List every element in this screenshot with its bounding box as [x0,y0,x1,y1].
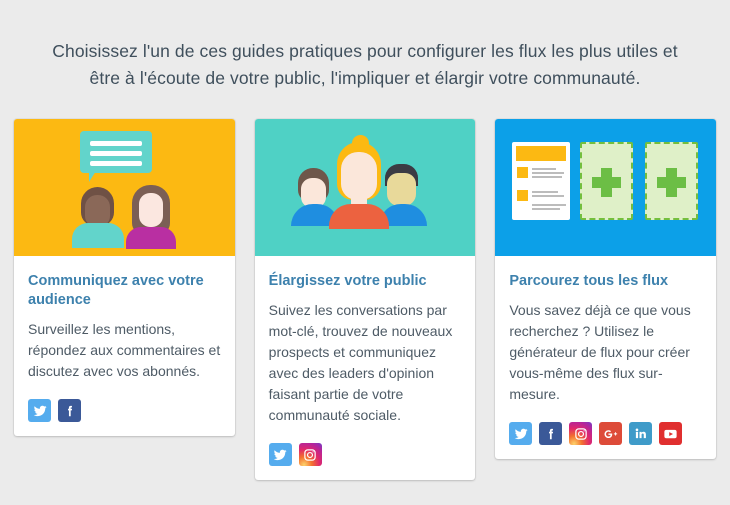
googleplus-icon[interactable] [599,422,622,445]
plus-icon [666,168,677,197]
facebook-icon[interactable] [58,399,81,422]
instagram-icon[interactable] [299,443,322,466]
document-header-bar [516,146,566,161]
guide-card-elargissez[interactable]: Élargissez votre public Suivez les conve… [255,119,476,480]
social-icons-row [269,443,462,466]
document-line-7 [532,208,560,210]
person-center-body [329,204,389,229]
facebook-icon[interactable] [539,422,562,445]
card-title[interactable]: Communiquez avec votre audience [28,272,221,310]
person-b-body [126,227,176,249]
plus-icon [601,168,612,197]
document-line-1 [532,168,556,170]
twitter-icon[interactable] [28,399,51,422]
add-feed-card-1[interactable] [580,142,633,220]
intro-paragraph: Choisissez l'un de ces guides pratiques … [50,38,680,92]
guide-card-communiquez[interactable]: Communiquez avec votre audience Surveill… [14,119,235,436]
document-line-6 [532,204,566,206]
document-line-2 [532,172,564,174]
guide-card-parcourez[interactable]: Parcourez tous les flux Vous savez déjà … [495,119,716,459]
document-thumb-2 [517,190,528,201]
card-body-communiquez: Communiquez avec votre audience Surveill… [14,256,235,436]
card-illustration-elargissez [255,119,476,256]
card-title[interactable]: Élargissez votre public [269,272,462,291]
linkedin-icon[interactable] [629,422,652,445]
person-center-bun [352,135,369,151]
instagram-icon[interactable] [569,422,592,445]
document-line-5 [532,195,564,197]
youtube-icon[interactable] [659,422,682,445]
card-illustration-communiquez [14,119,235,256]
card-description: Surveillez les mentions, répondez aux co… [28,319,221,382]
card-description: Suivez les conversations par mot-clé, tr… [269,300,462,426]
person-a-body [72,223,124,248]
three-people-illustration [255,119,476,256]
add-feed-card-2[interactable] [645,142,698,220]
person-right-face [387,173,416,206]
card-title[interactable]: Parcourez tous les flux [509,272,702,291]
card-body-parcourez: Parcourez tous les flux Vous savez déjà … [495,256,716,459]
document-line-4 [532,191,558,193]
twitter-icon[interactable] [269,443,292,466]
card-body-elargissez: Élargissez votre public Suivez les conve… [255,256,476,480]
card-illustration-parcourez [495,119,716,256]
card-description: Vous savez déjà ce que vous recherchez ?… [509,300,702,405]
feed-document-icon [512,142,570,220]
document-line-3 [532,176,562,178]
page-root: Choisissez l'un de ces guides pratiques … [0,0,730,505]
document-thumb-1 [517,167,528,178]
social-icons-row [509,422,702,445]
twitter-icon[interactable] [509,422,532,445]
guide-cards-list: Communiquez avec votre audience Surveill… [14,119,716,480]
person-b-face [139,193,163,227]
social-icons-row [28,399,221,422]
speech-bubble-icon [80,131,152,173]
